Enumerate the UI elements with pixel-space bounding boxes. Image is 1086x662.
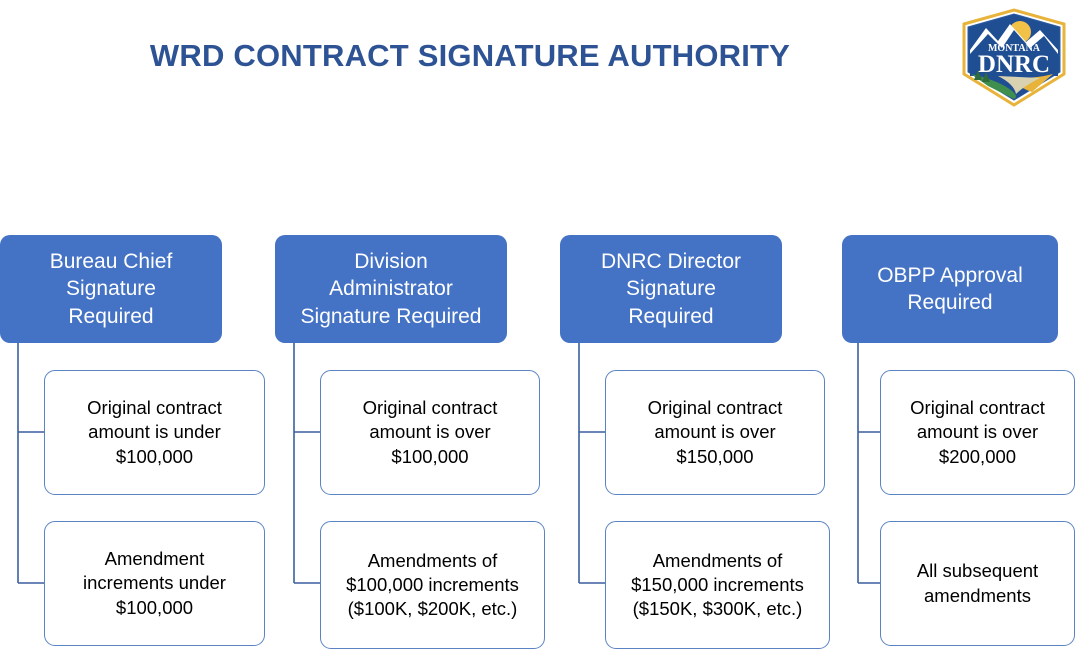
- header-label: OBPP Approval Required: [848, 262, 1052, 317]
- signature-authority-diagram: Bureau Chief Signature Required Original…: [0, 0, 1086, 662]
- authority-column: OBPP Approval Required Original contract…: [0, 0, 1086, 662]
- leaf-box-original-contract[interactable]: Original contract amount is over $200,00…: [880, 370, 1075, 495]
- leaf-label: Original contract amount is over $200,00…: [889, 396, 1066, 468]
- column-header-obpp-approval[interactable]: OBPP Approval Required: [842, 235, 1058, 343]
- leaf-box-amendments[interactable]: All subsequent amendments: [880, 521, 1075, 646]
- leaf-label: All subsequent amendments: [889, 559, 1066, 607]
